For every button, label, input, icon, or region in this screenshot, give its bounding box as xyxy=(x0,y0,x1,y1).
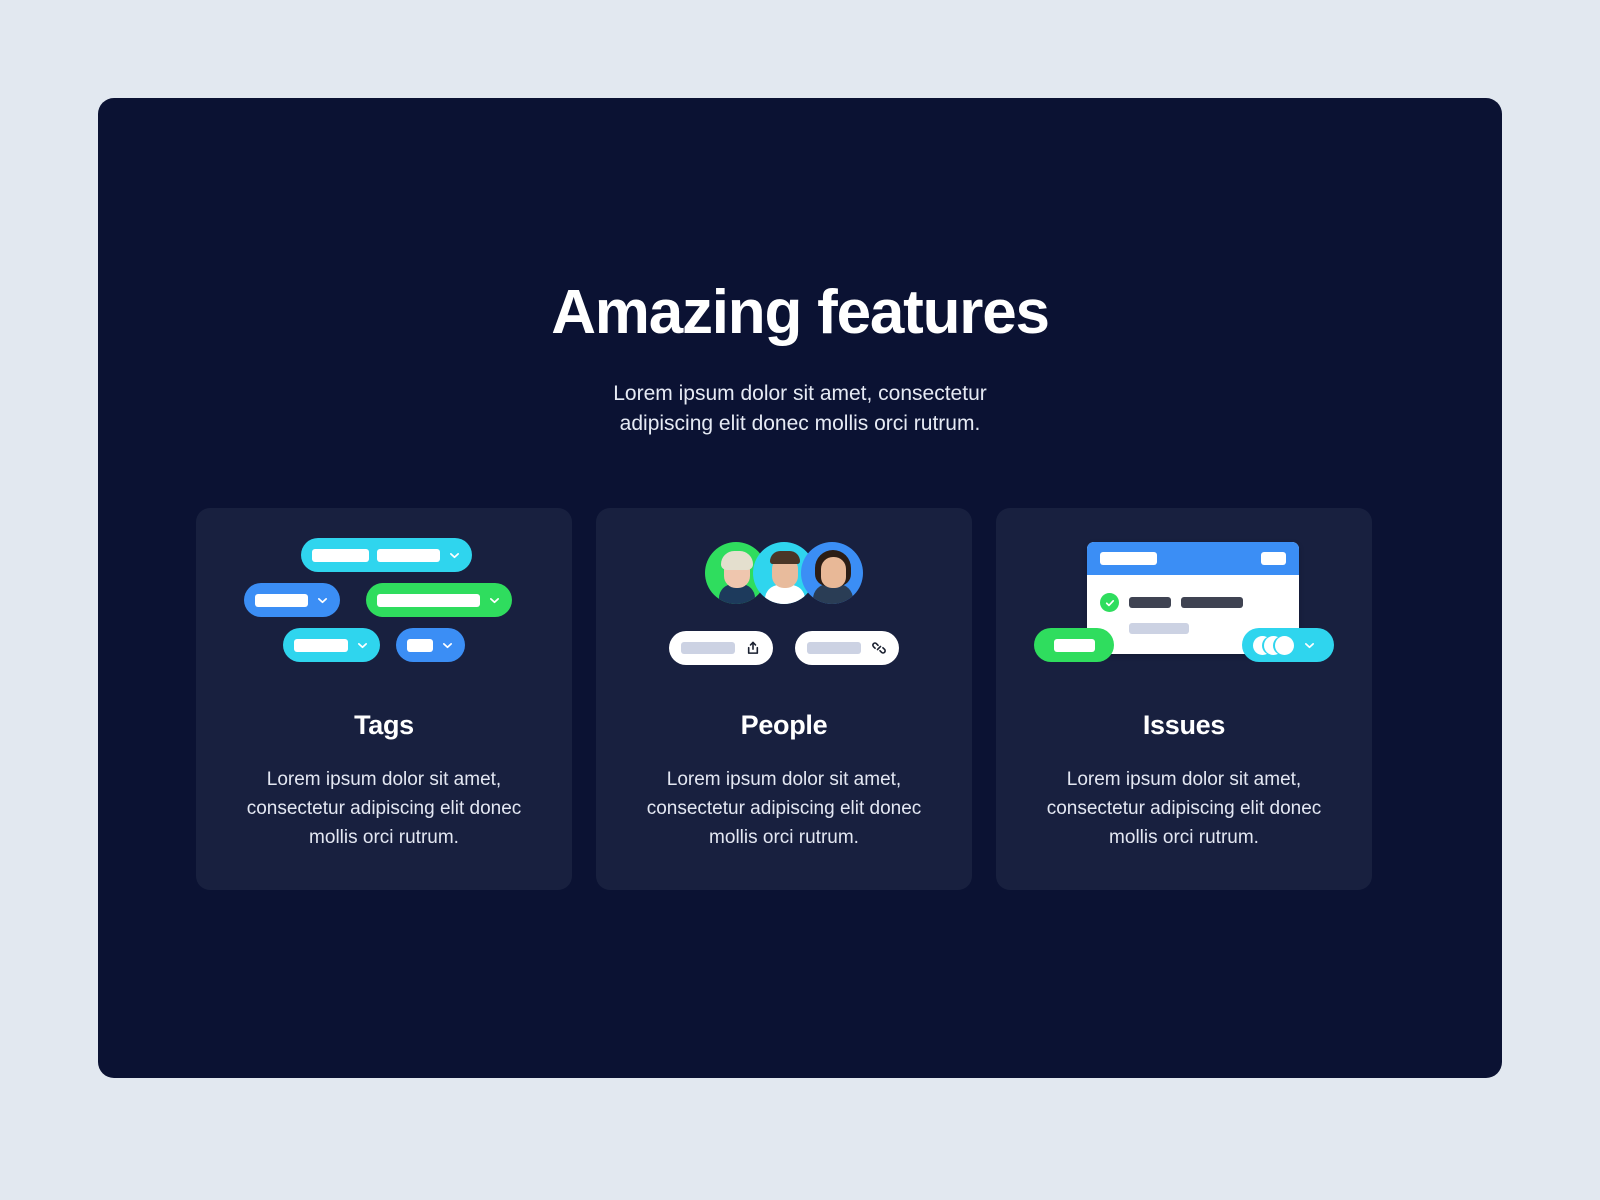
feature-cards: Tags Lorem ipsum dolor sit amet, consect… xyxy=(196,508,1372,890)
card-description-issues: Lorem ipsum dolor sit amet, consectetur … xyxy=(1034,765,1334,852)
issue-text-bar xyxy=(1181,597,1243,608)
issue-row xyxy=(1100,593,1286,612)
issue-status-pill xyxy=(1034,628,1114,662)
tag-label-bar xyxy=(377,549,440,562)
window-action-bar xyxy=(1261,552,1286,565)
tag-label-bar xyxy=(377,594,480,607)
page-title: Amazing features xyxy=(98,280,1502,345)
tag-pill-5 xyxy=(396,628,465,662)
chevron-down-icon xyxy=(1303,639,1316,652)
avatar xyxy=(801,542,863,604)
card-description-people: Lorem ipsum dolor sit amet, consectetur … xyxy=(634,765,934,852)
tag-label-bar xyxy=(407,639,433,652)
feature-card-tags[interactable]: Tags Lorem ipsum dolor sit amet, consect… xyxy=(196,508,572,890)
copy-link-button[interactable] xyxy=(795,631,899,665)
features-panel: Amazing features Lorem ipsum dolor sit a… xyxy=(98,98,1502,1078)
chevron-down-icon xyxy=(316,594,329,607)
card-description-tags: Lorem ipsum dolor sit amet, consectetur … xyxy=(234,765,534,852)
card-title-tags: Tags xyxy=(354,710,414,741)
tag-label-bar xyxy=(255,594,308,607)
tag-pill-3 xyxy=(366,583,512,617)
tags-illustration xyxy=(196,508,572,708)
window-title-bar xyxy=(1100,552,1157,565)
button-label-bar xyxy=(681,642,735,654)
chevron-down-icon xyxy=(356,639,369,652)
tag-pill-1 xyxy=(301,538,472,572)
hero-section: Amazing features Lorem ipsum dolor sit a… xyxy=(98,280,1502,439)
people-actions xyxy=(669,631,899,665)
chevron-down-icon xyxy=(488,594,501,607)
issues-illustration xyxy=(996,508,1372,708)
card-title-issues: Issues xyxy=(1143,710,1225,741)
hero-subtitle-line-1: Lorem ipsum dolor sit amet, consectetur xyxy=(613,382,987,405)
feature-card-issues[interactable]: Issues Lorem ipsum dolor sit amet, conse… xyxy=(996,508,1372,890)
issue-subtext-bar xyxy=(1129,623,1189,634)
tag-label-bar xyxy=(294,639,348,652)
feature-card-people[interactable]: People Lorem ipsum dolor sit amet, conse… xyxy=(596,508,972,890)
issue-assignees-pill xyxy=(1242,628,1334,662)
issue-window-body xyxy=(1087,575,1299,634)
assignee-avatar-stack xyxy=(1253,636,1294,655)
tag-pill-4 xyxy=(283,628,380,662)
share-icon xyxy=(745,640,761,656)
hero-subtitle: Lorem ipsum dolor sit amet, consectetur … xyxy=(98,379,1502,439)
button-label-bar xyxy=(807,642,861,654)
chevron-down-icon xyxy=(441,639,454,652)
tag-label-bar xyxy=(312,549,369,562)
assignee-avatar xyxy=(1275,636,1294,655)
page-root: Amazing features Lorem ipsum dolor sit a… xyxy=(0,0,1600,1200)
hero-subtitle-line-2: adipiscing elit donec mollis orci rutrum… xyxy=(620,412,981,435)
check-circle-icon xyxy=(1100,593,1119,612)
chevron-down-icon xyxy=(448,549,461,562)
people-illustration xyxy=(596,508,972,708)
issue-text-bar xyxy=(1129,597,1171,608)
avatar-group xyxy=(705,542,863,604)
tag-pill-2 xyxy=(244,583,340,617)
card-title-people: People xyxy=(741,710,828,741)
link-icon xyxy=(871,640,887,656)
status-label-bar xyxy=(1054,639,1095,652)
issue-window-header xyxy=(1087,542,1299,575)
share-button[interactable] xyxy=(669,631,773,665)
